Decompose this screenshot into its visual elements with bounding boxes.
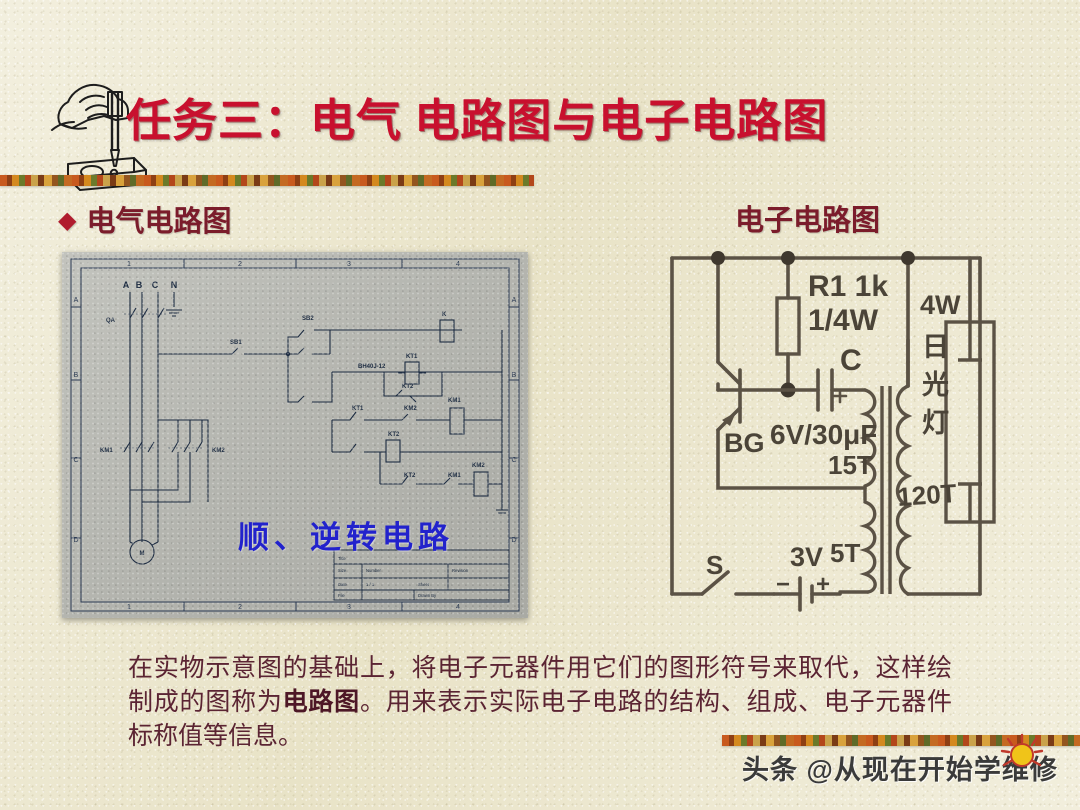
svg-text:B: B	[136, 280, 143, 290]
svg-text:KM2: KM2	[212, 448, 225, 454]
svg-text:Drawn By: Drawn By	[418, 593, 437, 598]
svg-text:1: 1	[127, 604, 131, 611]
svg-text:SB2: SB2	[302, 316, 314, 322]
svg-text:2: 2	[238, 261, 242, 268]
winding-120t-label: 120T	[896, 478, 957, 512]
resistor-label-line2: 1/4W	[808, 304, 879, 337]
svg-text:N: N	[171, 280, 178, 290]
svg-text:KM2: KM2	[404, 406, 417, 412]
svg-text:BH40J-12: BH40J-12	[358, 364, 386, 370]
svg-text:A: A	[74, 297, 79, 304]
capacitor-name-label: C	[840, 344, 862, 377]
electronic-schematic: R1 1k 1/4W C 6V/30μF BG 15T 5T 120T 3V −…	[650, 244, 1070, 616]
svg-text:KT2: KT2	[388, 432, 400, 438]
svg-text:SB1: SB1	[230, 340, 242, 346]
svg-text:灯: 灯	[922, 408, 949, 438]
svg-text:4: 4	[456, 604, 460, 611]
svg-text:3: 3	[347, 261, 351, 268]
svg-text:D: D	[511, 537, 516, 544]
svg-text:KT2: KT2	[404, 473, 416, 479]
transistor-label: BG	[724, 428, 765, 458]
svg-text:M: M	[140, 551, 145, 557]
diamond-bullet-icon: ◆	[58, 208, 76, 234]
body-paragraph: 在实物示意图的基础上，将电子元器件用它们的图形符号来取代，这样绘制成的图称为电路…	[128, 652, 952, 754]
slide-page: 任务三：电气 电路图与电子电路图 ◆电气电路图 电子电路图	[0, 0, 1080, 810]
svg-text:光: 光	[921, 370, 949, 400]
svg-text:KM1: KM1	[100, 448, 113, 454]
svg-text:KM1: KM1	[448, 398, 461, 404]
svg-text:A: A	[123, 280, 130, 290]
photo-caption: 顺、逆转电路	[238, 512, 454, 557]
svg-text:1: 1	[127, 261, 131, 268]
section-heading-electrical-label: 电气电路图	[86, 206, 231, 238]
section-heading-electronic: 电子电路图	[735, 197, 880, 239]
svg-text:4W: 4W	[920, 290, 961, 320]
svg-text:KM2: KM2	[472, 463, 485, 469]
svg-text:B: B	[512, 372, 517, 379]
winding-15t-label: 15T	[828, 450, 873, 480]
svg-text:C: C	[152, 280, 159, 290]
svg-text:3: 3	[347, 604, 351, 611]
capacitor-value-label: 6V/30μF	[770, 419, 877, 450]
svg-text:2: 2	[238, 604, 242, 611]
svg-text:Revision: Revision	[452, 568, 469, 573]
electrical-drawing-photo: 12 34 12 34 AB CD AB CD	[62, 252, 528, 618]
lamp-label: 4W 日 光 灯	[920, 290, 961, 438]
svg-text:日: 日	[922, 332, 949, 362]
svg-text:KT1: KT1	[406, 354, 418, 360]
battery-minus-label: −	[776, 571, 790, 598]
svg-text:KT2: KT2	[402, 384, 414, 390]
resistor-label-line1: R1 1k	[808, 270, 888, 303]
svg-text:A: A	[512, 297, 517, 304]
switch-label: S	[706, 550, 723, 580]
svg-text:Number: Number	[366, 568, 381, 573]
svg-text:QA: QA	[106, 318, 116, 324]
svg-text:Sheet: Sheet	[418, 582, 430, 587]
svg-text:KT1: KT1	[352, 406, 364, 412]
svg-text:D: D	[73, 537, 78, 544]
divider-bar-top	[0, 175, 534, 186]
winding-5t-label: 5T	[830, 538, 860, 568]
svg-text:KM1: KM1	[448, 473, 461, 479]
svg-text:4: 4	[456, 261, 460, 268]
svg-text:C: C	[511, 457, 516, 464]
svg-text:C: C	[73, 457, 78, 464]
slide-header: 任务三：电气 电路图与电子电路图	[0, 26, 1080, 176]
svg-text:Date: Date	[338, 582, 348, 587]
sun-burst-icon	[1000, 733, 1044, 775]
battery-value-label: 3V	[790, 542, 823, 572]
svg-text:K: K	[442, 312, 447, 318]
svg-text:Size: Size	[338, 568, 347, 573]
svg-text:B: B	[74, 372, 79, 379]
svg-text:File: File	[338, 593, 345, 598]
svg-text:1 / 1: 1 / 1	[366, 582, 375, 587]
section-heading-electrical: ◆电气电路图	[58, 198, 231, 240]
battery-plus-label: +	[816, 571, 830, 598]
body-emphasis: 电路图	[283, 689, 360, 716]
page-title: 任务三：电气 电路图与电子电路图	[126, 84, 828, 149]
